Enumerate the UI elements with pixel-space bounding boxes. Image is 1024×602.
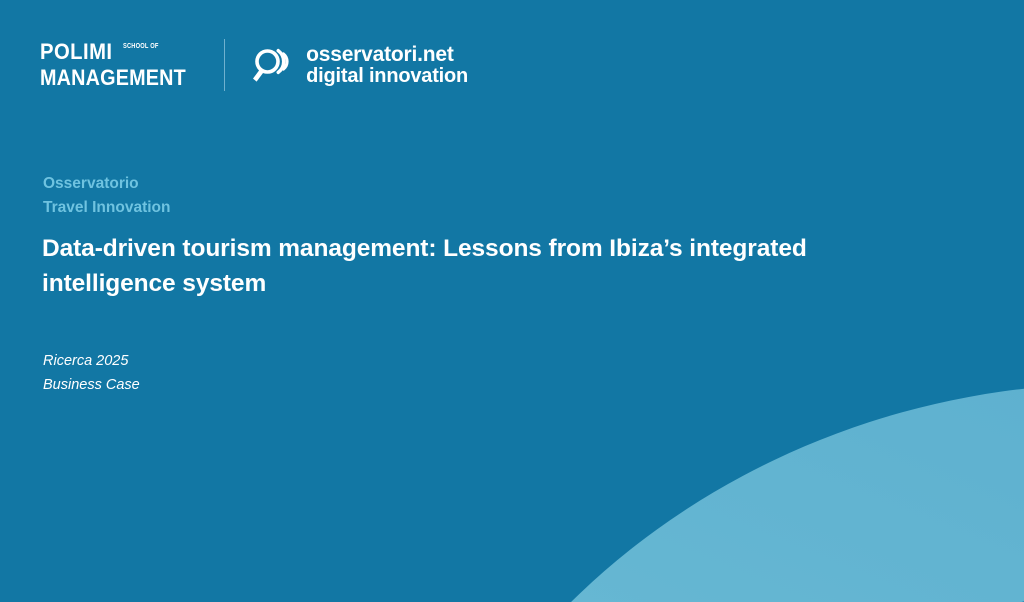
cover-slide: POLIMI SCHOOL OF MANAGEMENT osservatori.… (0, 0, 1024, 602)
osservatori-tagline: digital innovation (306, 66, 468, 87)
document-meta-year: Ricerca 2025 (43, 349, 140, 373)
polimi-management-label: MANAGEMENT (40, 67, 186, 89)
magnifier-icon (247, 42, 293, 88)
observatory-label-line2: Travel Innovation (43, 196, 170, 220)
document-meta-type: Business Case (43, 373, 140, 397)
polimi-school-of-label: SCHOOL OF (123, 43, 159, 50)
arc-shape-dark (490, 397, 1024, 602)
observatory-label: Osservatorio Travel Innovation (43, 172, 170, 221)
logo-divider (224, 39, 225, 91)
polimi-wordmark: POLIMI (40, 41, 112, 63)
logo-bar: POLIMI SCHOOL OF MANAGEMENT osservatori.… (40, 36, 468, 94)
polimi-logo: POLIMI SCHOOL OF MANAGEMENT (40, 38, 204, 92)
observatory-label-line1: Osservatorio (43, 172, 170, 196)
page-title: Data-driven tourism management: Lessons … (42, 232, 902, 302)
osservatori-logo: osservatori.net digital innovation (247, 42, 468, 88)
osservatori-name: osservatori.net (306, 44, 468, 66)
document-meta: Ricerca 2025 Business Case (43, 349, 140, 397)
